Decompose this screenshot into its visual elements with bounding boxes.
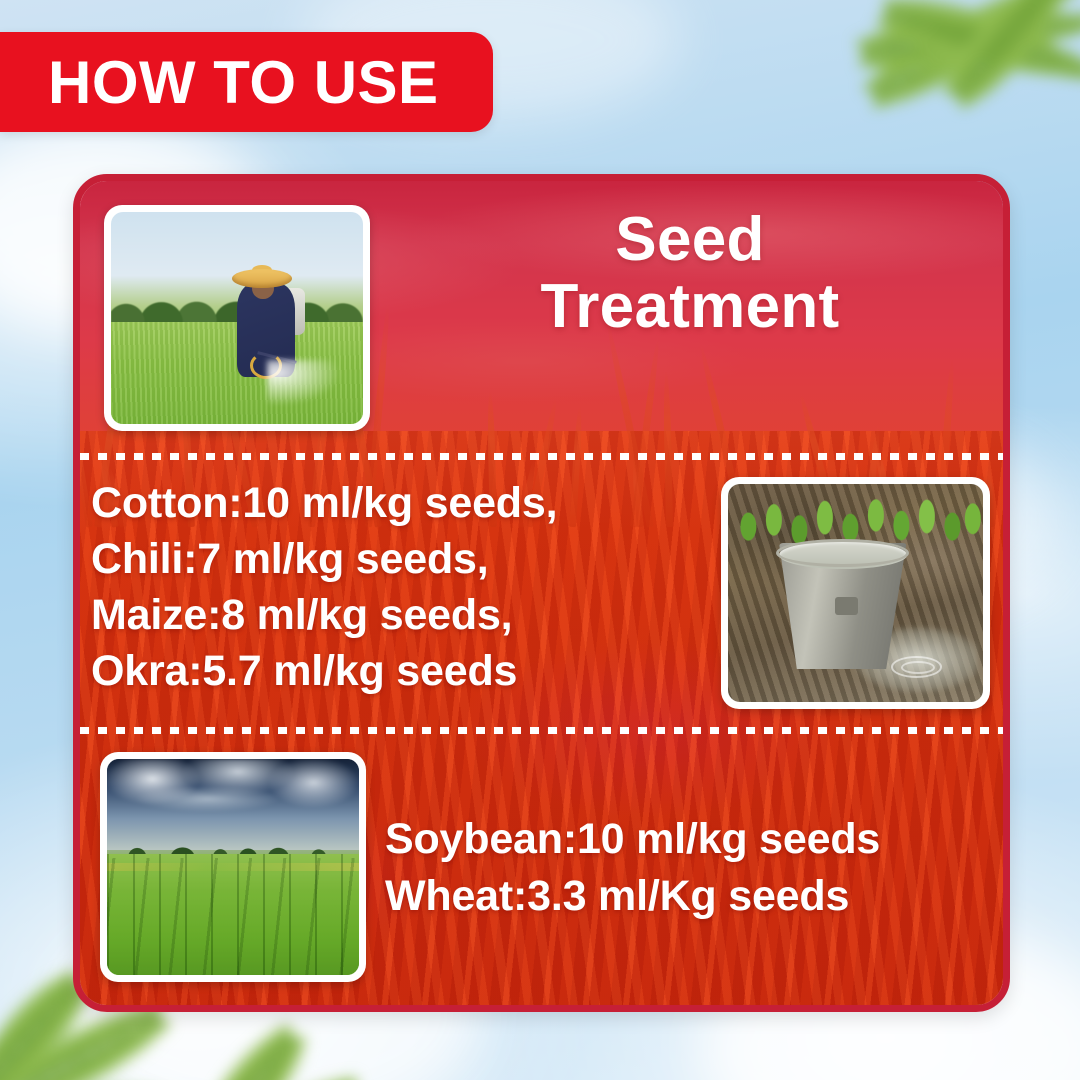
dotted-divider xyxy=(80,727,1003,734)
bucket-rim xyxy=(776,539,909,567)
palm-frond xyxy=(154,1027,294,1080)
card-title-line2: Treatment xyxy=(380,274,1000,341)
photo-water-bucket xyxy=(721,477,990,709)
middle-dose-list: Cotton:10 ml/kg seeds, Chili:7 ml/kg see… xyxy=(91,476,711,700)
photo-crop-field xyxy=(100,752,366,982)
card-bottom-row: Soybean:10 ml/kg seeds Wheat:3.3 ml/Kg s… xyxy=(80,734,1003,1005)
dose-line: Cotton:10 ml/kg seeds, xyxy=(91,476,711,532)
dose-line: Maize:8 ml/kg seeds, xyxy=(91,588,711,644)
palm-leaflet xyxy=(316,1076,340,1080)
storm-clouds xyxy=(107,759,359,850)
photo-farmer-spraying xyxy=(104,205,370,431)
banner-label: HOW TO USE xyxy=(48,48,439,117)
dose-line: Soybean:10 ml/kg seeds xyxy=(385,811,1005,868)
bucket-handle xyxy=(835,597,858,614)
dose-line: Chili:7 ml/kg seeds, xyxy=(91,532,711,588)
bottom-dose-list: Soybean:10 ml/kg seeds Wheat:3.3 ml/Kg s… xyxy=(385,811,1005,925)
card-middle-row: Cotton:10 ml/kg seeds, Chili:7 ml/kg see… xyxy=(80,460,1003,727)
card-title: Seed Treatment xyxy=(380,207,1000,341)
crop-row-lines xyxy=(107,858,359,975)
card-top-row: Seed Treatment xyxy=(80,181,1003,437)
how-to-use-banner: HOW TO USE xyxy=(0,32,493,132)
seed-treatment-card: Seed Treatment Cotton:10 ml/kg seeds, Ch… xyxy=(73,174,1010,1012)
dotted-divider xyxy=(80,453,1003,460)
dose-line: Okra:5.7 ml/kg seeds xyxy=(91,644,711,700)
water-ripple xyxy=(901,661,934,674)
pesticide-spray-mist xyxy=(267,360,363,424)
dose-line: Wheat:3.3 ml/Kg seeds xyxy=(385,868,1005,925)
card-title-line1: Seed xyxy=(380,207,1000,274)
palm-leaflet xyxy=(861,81,885,94)
